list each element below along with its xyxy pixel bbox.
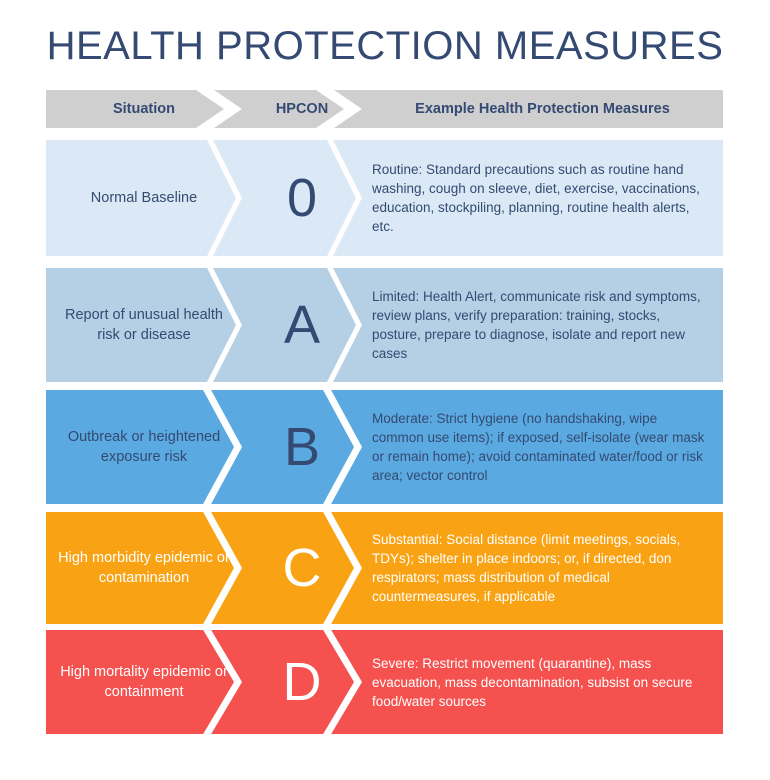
row-cell-hpcon: 0	[242, 140, 362, 256]
row-cell-measures: Severe: Restrict movement (quarantine), …	[362, 630, 723, 734]
hpcon-level-label: C	[283, 541, 322, 595]
row-cell-hpcon: C	[242, 512, 362, 624]
row-cell-measures: Moderate: Strict hygiene (no handshaking…	[362, 390, 723, 504]
measures-text: Routine: Standard precautions such as ro…	[372, 160, 709, 236]
row-cell-situation: High mortality epidemic or containment	[46, 630, 242, 734]
situation-text: Outbreak or heightened exposure risk	[56, 427, 232, 467]
header-cell-hpcon: HPCON	[242, 90, 362, 128]
row-cell-hpcon: A	[242, 268, 362, 382]
situation-text: Report of unusual health risk or disease	[56, 305, 232, 345]
hpcon-level-label: 0	[287, 171, 317, 225]
row-cell-measures: Limited: Health Alert, communicate risk …	[362, 268, 723, 382]
row-cell-measures: Substantial: Social distance (limit meet…	[362, 512, 723, 624]
header-cell-situation: Situation	[46, 90, 242, 128]
row-cell-hpcon: B	[242, 390, 362, 504]
measures-text: Substantial: Social distance (limit meet…	[372, 530, 709, 606]
row-cell-situation: Report of unusual health risk or disease	[46, 268, 242, 382]
table-row-hpcon-b: Outbreak or heightened exposure risk B M…	[46, 390, 723, 504]
situation-text: Normal Baseline	[91, 188, 197, 208]
infographic-root: HEALTH PROTECTION MEASURES Situation HPC…	[0, 0, 770, 780]
header-cell-measures: Example Health Protection Measures	[362, 90, 723, 128]
row-cell-measures: Routine: Standard precautions such as ro…	[362, 140, 723, 256]
hpcon-level-label: D	[283, 655, 322, 709]
situation-text: High mortality epidemic or containment	[56, 662, 232, 702]
table-header-row: Situation HPCON Example Health Protectio…	[46, 90, 723, 128]
table-row-hpcon-c: High morbidity epidemic or contamination…	[46, 512, 723, 624]
measures-text: Moderate: Strict hygiene (no handshaking…	[372, 409, 709, 485]
table-row-hpcon-a: Report of unusual health risk or disease…	[46, 268, 723, 382]
row-cell-situation: High morbidity epidemic or contamination	[46, 512, 242, 624]
header-label-hpcon: HPCON	[276, 101, 328, 117]
measures-text: Limited: Health Alert, communicate risk …	[372, 287, 709, 363]
row-cell-situation: Outbreak or heightened exposure risk	[46, 390, 242, 504]
table-row-hpcon-0: Normal Baseline 0 Routine: Standard prec…	[46, 140, 723, 256]
header-label-situation: Situation	[113, 101, 175, 117]
row-cell-hpcon: D	[242, 630, 362, 734]
hpcon-level-label: B	[284, 420, 320, 474]
page-title: HEALTH PROTECTION MEASURES	[0, 24, 770, 69]
hpcon-level-label: A	[284, 298, 320, 352]
table-row-hpcon-d: High mortality epidemic or containment D…	[46, 630, 723, 734]
row-cell-situation: Normal Baseline	[46, 140, 242, 256]
measures-text: Severe: Restrict movement (quarantine), …	[372, 654, 709, 711]
situation-text: High morbidity epidemic or contamination	[56, 548, 232, 588]
header-label-measures: Example Health Protection Measures	[415, 101, 670, 117]
